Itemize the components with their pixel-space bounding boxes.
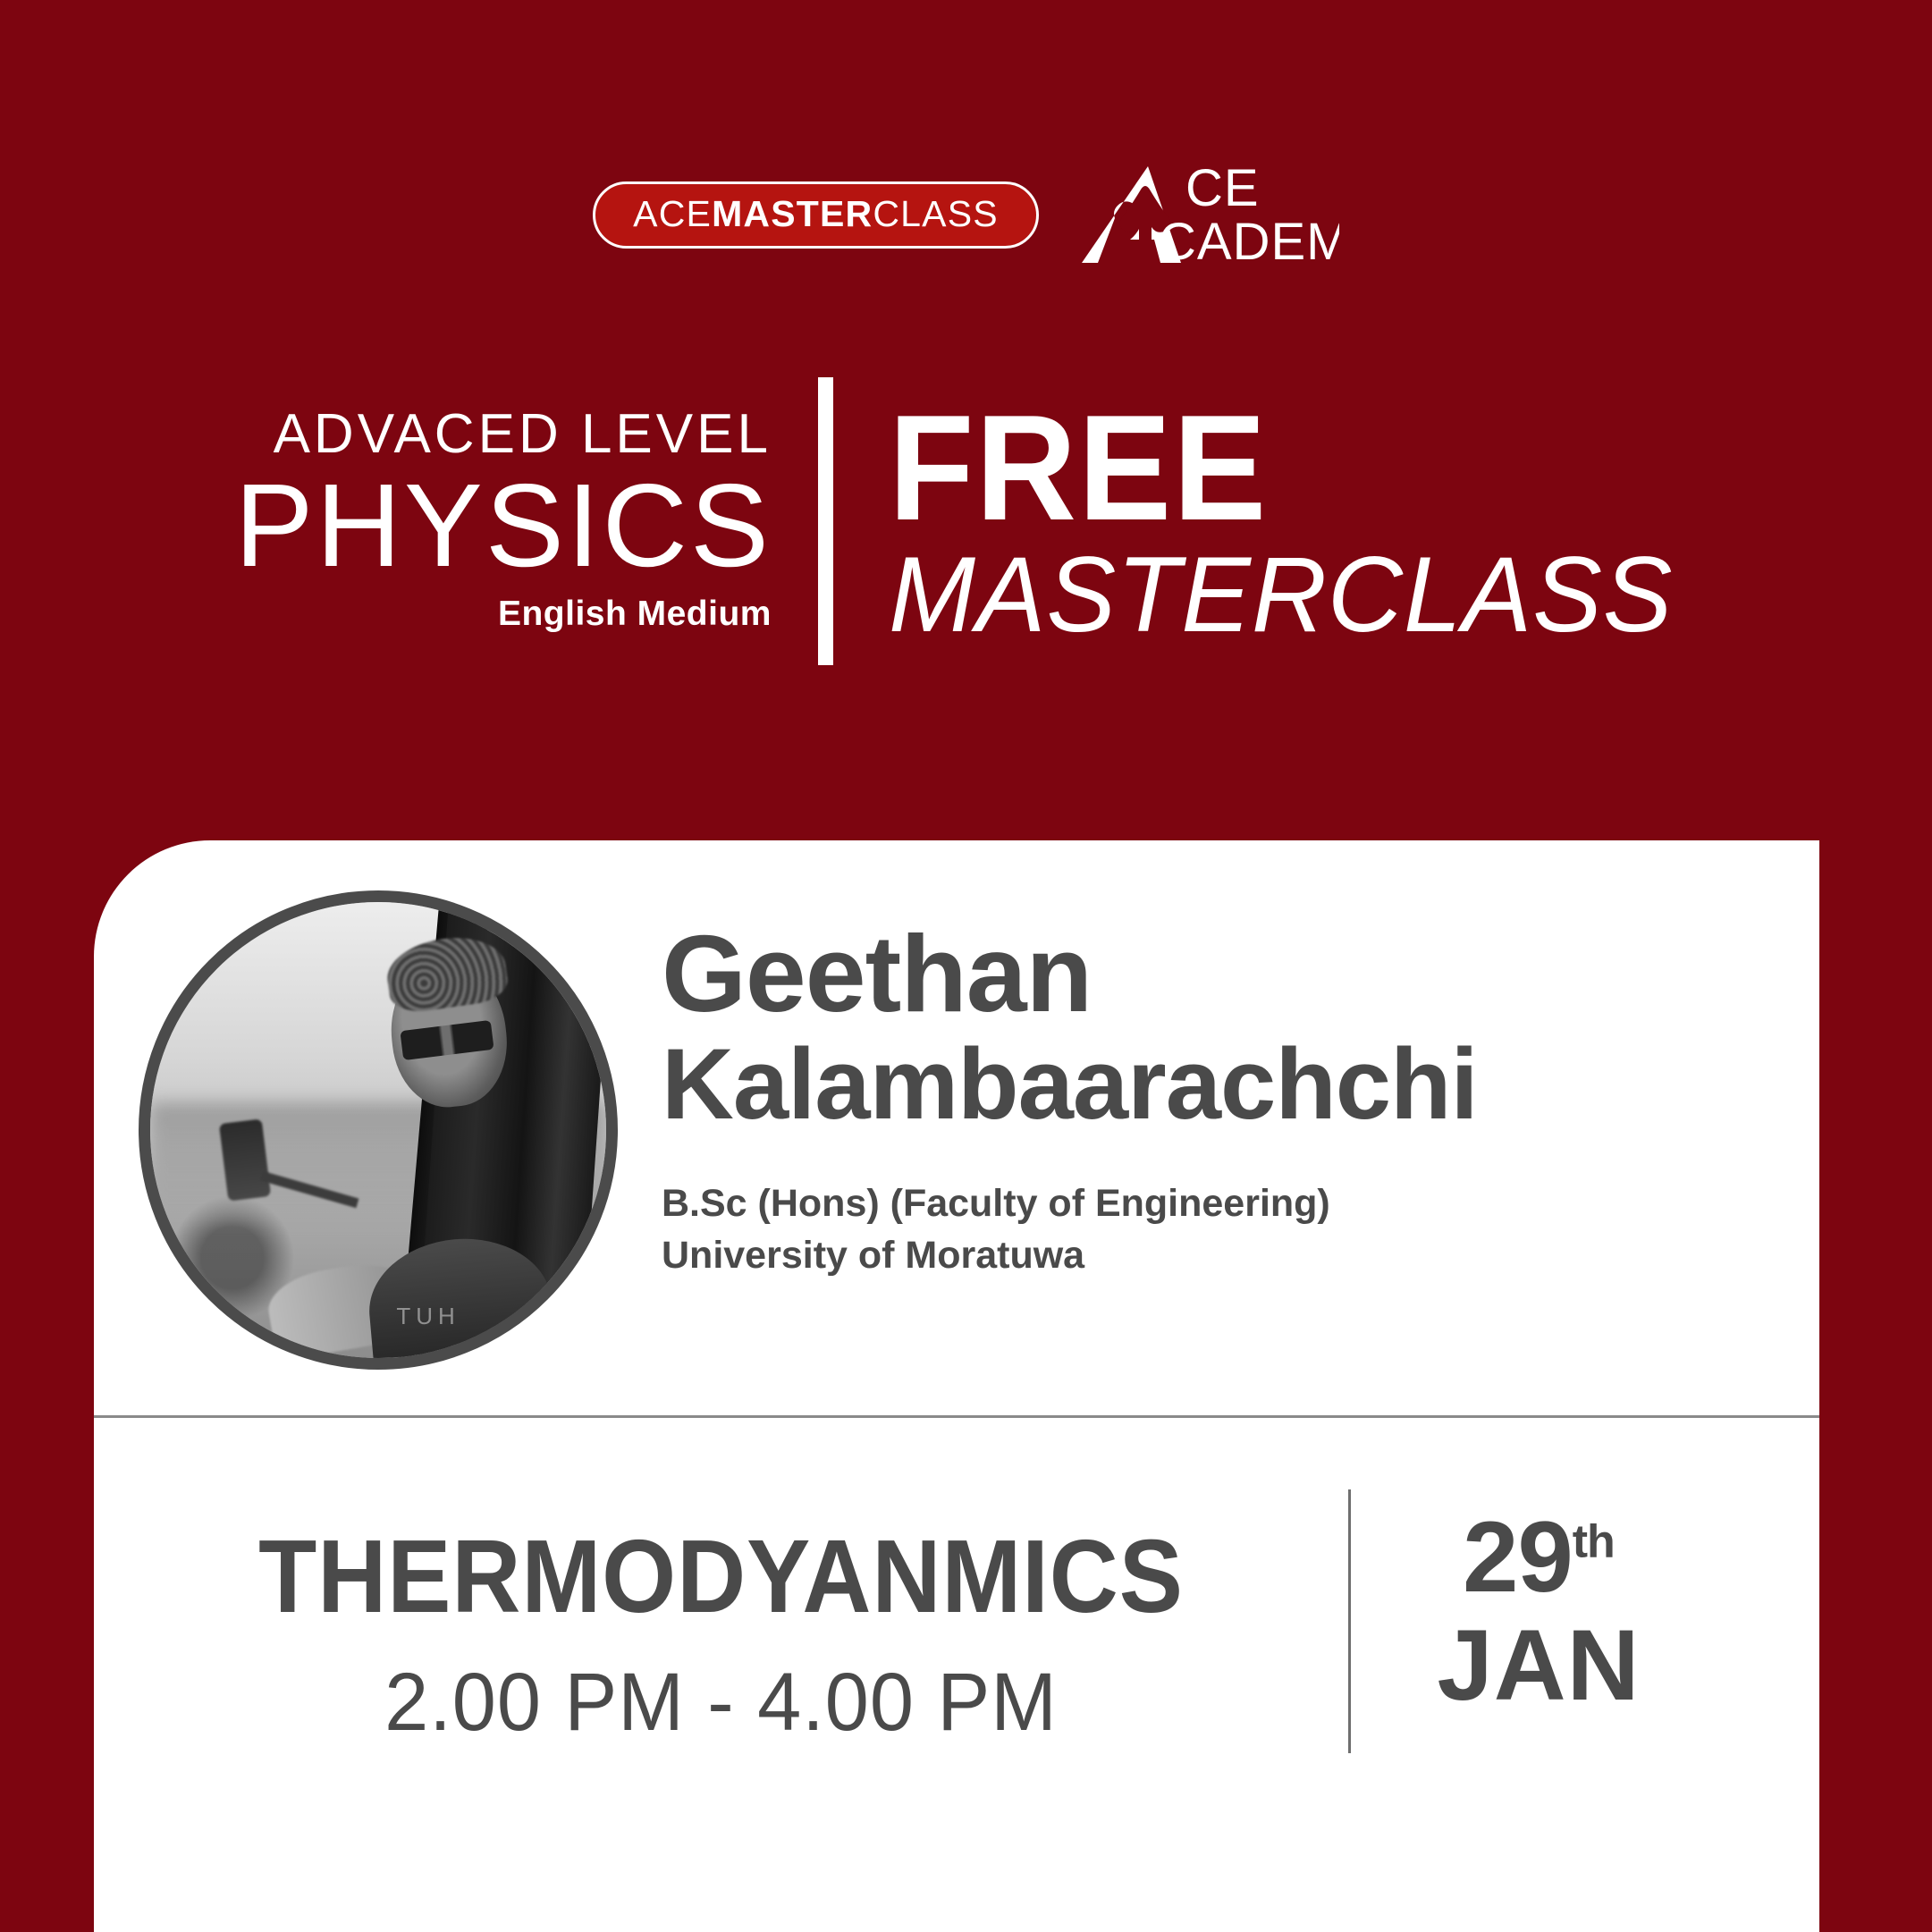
- photo-watermark: TUH: [396, 1303, 460, 1330]
- headline-left: ADVACED LEVEL PHYSICS English Medium: [234, 405, 818, 637]
- badge-text-master: MASTER: [712, 196, 873, 232]
- badge-text-class: CLASS: [873, 196, 998, 232]
- photo-phone: [218, 1118, 271, 1201]
- speaker-last-name: Kalambaarachchi: [662, 1032, 1761, 1138]
- headline-free: FREE: [889, 397, 1641, 540]
- badge-text-ace: ACE: [633, 196, 712, 232]
- headline-masterclass: MASTERCLASS: [889, 544, 1673, 645]
- event-date-month: JAN: [1351, 1613, 1726, 1718]
- speaker-photo-wrap: TUH: [139, 890, 618, 1370]
- speaker-avatar: TUH: [139, 890, 618, 1370]
- headline-level: ADVACED LEVEL: [234, 405, 772, 463]
- speaker-credentials: B.Sc (Hons) (Faculty of Engineering) Uni…: [662, 1177, 1761, 1281]
- event-date-suffix: th: [1573, 1516, 1615, 1568]
- ace-masterclass-badge: ACE MASTER CLASS: [593, 181, 1039, 249]
- svg-text:CADEMY: CADEMY: [1159, 213, 1339, 266]
- speaker-section: TUH Geethan Kalambaarachchi B.Sc (Hons) …: [94, 840, 1819, 1415]
- event-section: THERMODYANMICS 2.00 PM - 4.00 PM 29th JA…: [94, 1418, 1819, 1932]
- event-topic: THERMODYANMICS: [144, 1523, 1298, 1629]
- event-time: 2.00 PM - 4.00 PM: [119, 1659, 1323, 1746]
- speaker-credential-line: University of Moratuwa: [662, 1229, 1761, 1281]
- event-date-day: 29: [1463, 1501, 1573, 1613]
- headline-medium: English Medium: [234, 592, 772, 637]
- headline-block: ADVACED LEVEL PHYSICS English Medium FRE…: [0, 365, 1932, 678]
- speaker-first-name: Geethan: [662, 919, 1761, 1028]
- headline-subject: PHYSICS: [234, 464, 772, 586]
- speaker-details: Geethan Kalambaarachchi B.Sc (Hons) (Fac…: [662, 919, 1761, 1281]
- ace-academy-logo: CE CADEMY: [1080, 163, 1339, 266]
- masterclass-poster: ACE MASTER CLASS CE CADEMY ADVACED LEVEL…: [0, 0, 1932, 1932]
- speaker-credential-line: B.Sc (Hons) (Faculty of Engineering): [662, 1177, 1761, 1229]
- headline-right: FREE MASTERCLASS: [833, 397, 1698, 645]
- event-topic-block: THERMODYANMICS 2.00 PM - 4.00 PM: [94, 1523, 1348, 1746]
- content-card: TUH Geethan Kalambaarachchi B.Sc (Hons) …: [94, 840, 1819, 1932]
- event-date-day-row: 29th: [1351, 1507, 1726, 1607]
- logo-row: ACE MASTER CLASS CE CADEMY: [0, 163, 1932, 266]
- ace-academy-logo-mark: CE CADEMY: [1080, 163, 1339, 266]
- headline-vertical-divider: [818, 377, 833, 665]
- event-date-block: 29th JAN: [1351, 1507, 1726, 1718]
- svg-text:CE: CE: [1185, 163, 1260, 217]
